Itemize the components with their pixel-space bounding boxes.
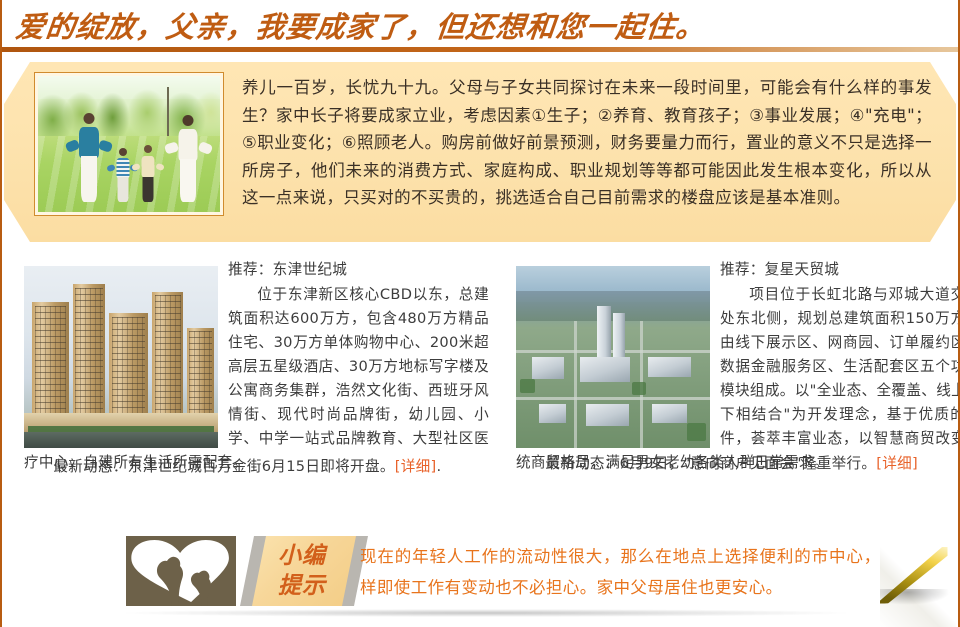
aerial-block-3 bbox=[648, 357, 691, 377]
figure-legs bbox=[180, 159, 196, 203]
figure-legs bbox=[143, 177, 154, 203]
photo-figure-father bbox=[74, 113, 104, 203]
page-title: 爱的绽放，父亲，我要成家了，但还想和您一起住。 bbox=[14, 4, 708, 46]
project-news-right: 最新动态：6月9日，"意向商户见面会"隆重举行。[详细] bbox=[516, 452, 960, 476]
detail-suffix: . bbox=[437, 458, 442, 475]
project-card-right: 推荐：复星天贸城 项目位于长虹北路与邓城大道交会处东北侧，规划总建筑面积150万… bbox=[516, 258, 960, 475]
editor-tip-text: 现在的年轻人工作的流动性很大，那么在地点上选择便利的市中心，这样即使工作有变动也… bbox=[360, 541, 898, 603]
tower-1 bbox=[32, 302, 69, 418]
tip-strip-shadow bbox=[126, 609, 846, 617]
title-divider bbox=[2, 47, 958, 52]
news-label: 最新动态： bbox=[545, 455, 619, 472]
news-line: 最新动态：6月9日，"意向商户见面会"隆重举行。[详细] bbox=[516, 452, 960, 476]
aerial-road-h2 bbox=[516, 397, 710, 400]
figure-head bbox=[144, 145, 152, 153]
project-card-left: 推荐：东津世纪城 位于东津新区核心CBD以东，总建筑面积达600万方，包含480… bbox=[24, 258, 489, 475]
figure-torso bbox=[79, 127, 99, 158]
tower-3 bbox=[109, 313, 148, 419]
tower-2 bbox=[73, 284, 106, 419]
figure-legs bbox=[117, 177, 128, 202]
news-text: 东津世纪城百万金街6月15日即将开盘。 bbox=[128, 458, 395, 475]
aerial-block-4 bbox=[539, 404, 566, 422]
aerial-block-1 bbox=[532, 357, 565, 379]
detail-link[interactable]: [详细] bbox=[395, 458, 437, 475]
news-text: 6月9日，"意向商户见面会"隆重举行。 bbox=[620, 455, 877, 472]
figure-legs bbox=[81, 156, 97, 203]
aerial-tower-2 bbox=[613, 313, 625, 360]
photo-figure-boy bbox=[113, 148, 133, 202]
ribbon-label-line1: 小编 bbox=[278, 542, 326, 569]
intro-photo-frame bbox=[34, 72, 224, 216]
editor-tip-strip: 小编提示 现在的年轻人工作的流动性很大，那么在地点上选择便利的市中心，这样即使工… bbox=[4, 533, 956, 625]
project-thumbnail-aerial[interactable] bbox=[516, 266, 710, 448]
aerial-block-6 bbox=[652, 404, 687, 422]
tower-5 bbox=[187, 328, 214, 419]
editor-tip-ribbon: 小编提示 bbox=[240, 536, 368, 606]
figure-head bbox=[182, 115, 193, 126]
street-strip bbox=[24, 432, 218, 448]
tower-4 bbox=[152, 292, 183, 419]
ribbon-label: 小编提示 bbox=[264, 541, 340, 601]
ribbon-label-line2: 提示 bbox=[278, 572, 326, 599]
aerial-block-5 bbox=[586, 404, 629, 426]
photo-figure-mother bbox=[173, 115, 203, 202]
aerial-tower-1 bbox=[597, 306, 611, 361]
aerial-park-1 bbox=[520, 379, 536, 394]
page-header: 爱的绽放，父亲，我要成家了，但还想和您一起住。 bbox=[2, 0, 958, 52]
project-news-left: 最新动态：东津世纪城百万金街6月15日即将开盘。[详细]. bbox=[24, 455, 494, 479]
page-curl-corner bbox=[880, 547, 956, 627]
aerial-park-3 bbox=[687, 423, 706, 441]
curl-sheet bbox=[880, 547, 956, 627]
news-label: 最新动态： bbox=[53, 458, 127, 475]
page-root: 爱的绽放，父亲，我要成家了，但还想和您一起住。 bbox=[0, 0, 960, 627]
figure-torso bbox=[178, 129, 197, 160]
figure-arm-left bbox=[164, 142, 179, 155]
detail-link[interactable]: [详细] bbox=[876, 455, 918, 472]
aerial-block-2 bbox=[580, 357, 630, 382]
project-thumbnail-towers[interactable] bbox=[24, 266, 218, 448]
news-line: 最新动态：东津世纪城百万金街6月15日即将开盘。[详细]. bbox=[24, 455, 494, 479]
intro-paragraph: 养儿一百岁，长忧九十九。父母与子女共同探讨在未来一段时间里，可能会有什么样的事发… bbox=[242, 74, 932, 212]
photo-figure-girl bbox=[138, 145, 158, 202]
aerial-park-2 bbox=[632, 382, 646, 395]
family-photo-image bbox=[38, 76, 220, 212]
heart-with-two-faces-icon bbox=[126, 536, 236, 606]
figure-torso bbox=[116, 158, 129, 178]
figure-head bbox=[119, 148, 127, 156]
figure-head bbox=[84, 113, 95, 124]
figure-arm-left bbox=[131, 163, 141, 171]
aerial-road-v1 bbox=[574, 321, 577, 448]
figure-torso bbox=[142, 156, 155, 178]
